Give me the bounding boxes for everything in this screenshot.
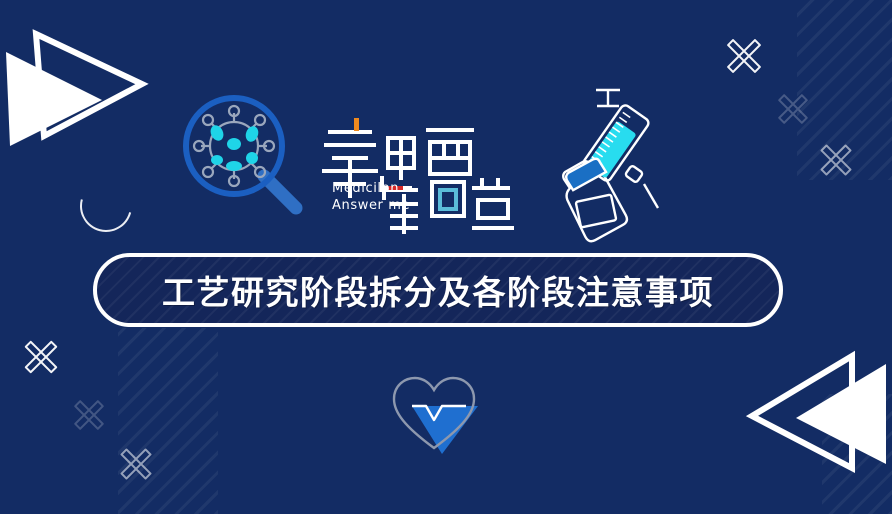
x-mark-decoration-3 bbox=[818, 142, 854, 178]
title-banner: 工艺研究阶段拆分及各阶段注意事项 bbox=[93, 253, 783, 327]
poster-canvas: Medicilon Answer me 工艺研究阶段拆分及各阶段注意事项 bbox=[0, 0, 892, 514]
syringe-vial-icon bbox=[552, 80, 672, 245]
logo-latin-line2: Answer me bbox=[332, 197, 410, 214]
medicilon-answer-me-logo: Medicilon Answer me bbox=[322, 112, 522, 237]
hatch-pattern-bottom-left bbox=[118, 328, 218, 514]
x-mark-decoration-5 bbox=[72, 398, 106, 432]
triangle-pair-top-left-icon bbox=[2, 22, 152, 152]
magnifier-virus-icon bbox=[176, 88, 306, 218]
logo-latin-line1: Medicilon bbox=[332, 180, 410, 197]
triangle-pair-bottom-right-icon bbox=[740, 346, 890, 486]
logo-chinese-glyphs bbox=[322, 112, 522, 237]
heart-check-icon bbox=[386, 372, 486, 456]
arc-decoration-top-left bbox=[70, 170, 141, 241]
x-mark-decoration-6 bbox=[118, 446, 154, 482]
logo-accent-orange bbox=[354, 118, 359, 131]
x-mark-decoration-1 bbox=[724, 36, 764, 76]
logo-latin-text: Medicilon Answer me bbox=[332, 180, 410, 214]
page-title: 工艺研究阶段拆分及各阶段注意事项 bbox=[97, 257, 779, 323]
x-mark-decoration-2 bbox=[776, 92, 810, 126]
x-mark-decoration-4 bbox=[22, 338, 60, 376]
logo-accent-cyan bbox=[440, 190, 456, 209]
